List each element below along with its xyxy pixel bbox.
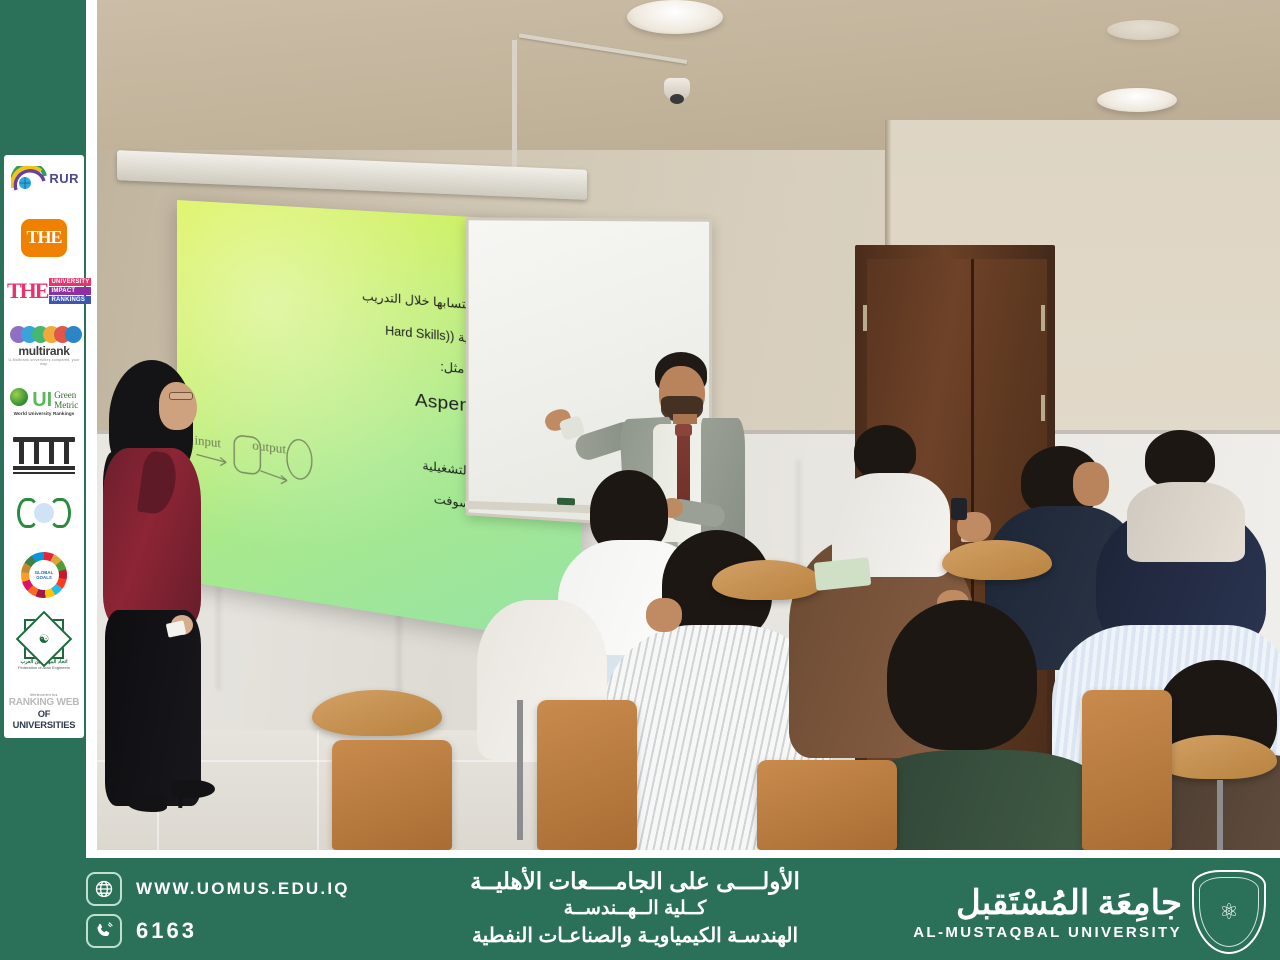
rankings-logo-panel: RUR THE THE UNIVERSITY IMPACT RANKINGS [4, 155, 84, 738]
rur-arc-icon [11, 166, 47, 194]
desk-tablet-arm-2 [942, 540, 1052, 580]
chair-2 [537, 700, 637, 850]
brand-name-arabic: جامِعَة المُسْتَقبل [913, 884, 1182, 924]
logo-sdg-global-goals: GLOBAL GOALS [8, 552, 80, 598]
logo-rur: RUR [8, 163, 80, 197]
greenmetric-ui-mark: UI [32, 391, 52, 409]
impact-line-1: UNIVERSITY [49, 278, 91, 286]
website-text[interactable]: WWW.UOMUS.EDU.IQ [136, 879, 350, 899]
university-shield-emblem: ⚛ [1192, 870, 1266, 954]
university-brand: جامِعَة المُسْتَقبل AL-MUSTAQBAL UNIVERS… [913, 870, 1266, 954]
footer-contact: WWW.UOMUS.EDU.IQ 6163 [86, 872, 416, 956]
desk-tablet-arm-4 [312, 690, 442, 736]
phone-text[interactable]: 6163 [136, 918, 197, 944]
headline-line-1: الأولــــى على الجامــــعات الأهليــة [400, 866, 870, 896]
eyeglasses-icon [169, 392, 193, 400]
logo-federation-arab-engineers: ☯ اتحاد المهندسين العرب Federation of Ar… [8, 619, 80, 670]
chair-leg-1 [517, 700, 523, 840]
female-staff-standing [97, 360, 227, 850]
phone-ring-icon [86, 914, 122, 948]
sdg-wheel-icon: GLOBAL GOALS [21, 552, 67, 598]
ceiling-light-3 [1107, 20, 1179, 40]
page-footer: WWW.UOMUS.EDU.IQ 6163 الأولــــى على الج… [0, 858, 1280, 960]
chair-1 [332, 740, 452, 850]
logo-the-impact-label: THE [7, 278, 47, 304]
impact-line-2: IMPACT [49, 287, 91, 295]
greenmetric-caption: World University Rankings [9, 411, 79, 416]
sdg-label: GLOBAL GOALS [29, 560, 59, 590]
logo-the: THE [8, 219, 80, 257]
chair-3 [757, 760, 897, 850]
logo-ui-greenmetric: UI Green Metric World University Ranking… [8, 388, 80, 416]
webometrics-line1: RANKING WEB [8, 697, 80, 708]
greenmetric-globe-icon [10, 388, 28, 406]
greenmetric-label-bottom: Metric [54, 400, 78, 410]
pillars-icon [13, 437, 75, 474]
chair-4 [1082, 690, 1172, 850]
multirank-tagline: U-Multirank universities compared. your … [8, 358, 80, 366]
phone-row[interactable]: 6163 [86, 914, 416, 948]
event-card: RUR THE THE UNIVERSITY IMPACT RANKINGS [0, 0, 1280, 960]
logo-association-arab-universities [8, 496, 80, 530]
multirank-discs-icon [10, 326, 80, 343]
student-back-row-right [1127, 430, 1247, 560]
www-globe-icon [86, 872, 122, 906]
brand-name-english: AL-MUSTAQBAL UNIVERSITY [913, 924, 1182, 941]
logo-webometrics: Webometrics RANKING WEB OF UNIVERSITIES [8, 692, 80, 730]
notebook-on-desk [814, 557, 872, 591]
arab-universities-wreath-icon [9, 496, 79, 530]
headline-line-3: الهندسـة الكيمياويـة والصناعـات النفطية [400, 922, 870, 950]
multirank-label: multirank [8, 344, 80, 358]
student-back-row-white [832, 425, 952, 575]
impact-line-3: RANKINGS [49, 296, 91, 304]
federation-star-icon: ☯ [24, 619, 64, 659]
footer-headline: الأولــــى على الجامــــعات الأهليــة كـ… [400, 866, 870, 950]
ceiling-light-2 [1097, 88, 1177, 112]
website-row[interactable]: WWW.UOMUS.EDU.IQ [86, 872, 416, 906]
headline-line-2: كــلية الــهــندســة [400, 896, 870, 922]
greenmetric-label-top: Green [54, 390, 78, 400]
lecture-hall-photo: مهارات يجب اكتسابها خلال التدريب ◆ مهارا… [97, 0, 1280, 850]
logo-multirank: multirank U-Multirank universities compa… [8, 326, 80, 366]
mobile-phone [951, 498, 967, 520]
ceiling-light-1 [627, 0, 723, 34]
logo-the-impact-rankings: THE UNIVERSITY IMPACT RANKINGS [8, 278, 80, 304]
logo-rur-label: RUR [49, 171, 79, 186]
rankings-logo-rail: RUR THE THE UNIVERSITY IMPACT RANKINGS [0, 0, 86, 858]
desk-tablet-arm-1 [712, 560, 822, 600]
logo-the-label: THE [26, 227, 61, 248]
desk-tablet-arm-3 [1157, 735, 1277, 779]
webometrics-line2: OF UNIVERSITIES [8, 708, 80, 730]
logo-qs-pillars [8, 437, 80, 474]
security-camera-icon [664, 78, 690, 100]
chair-leg-2 [1217, 780, 1223, 850]
